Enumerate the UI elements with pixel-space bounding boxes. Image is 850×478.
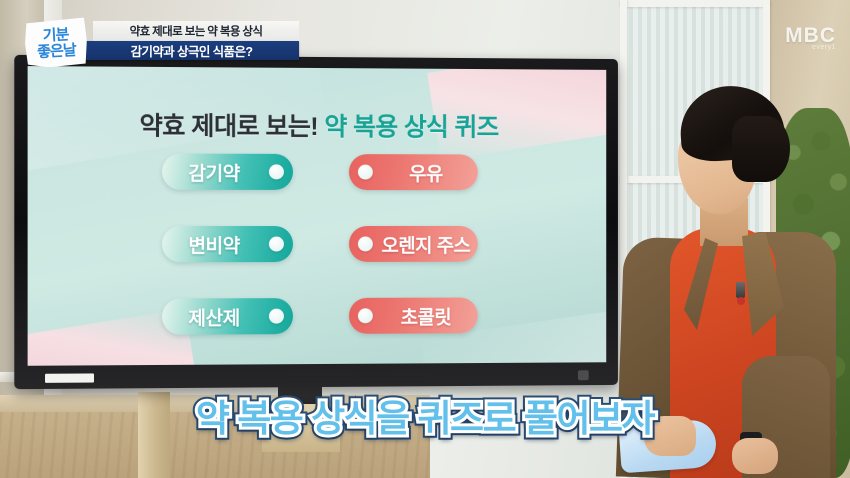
program-topic-banner: 약효 제대로 보는 약 복용 상식 감기약과 상극인 식품은? — [84, 21, 299, 60]
connector-dot-icon — [268, 164, 283, 179]
mbc-watermark-sub: every1 — [812, 44, 836, 51]
quiz-option-label: 감기약 — [188, 158, 239, 185]
quiz-option-label: 제산제 — [188, 303, 239, 330]
lapel-pin — [736, 282, 745, 298]
hair-back — [732, 116, 790, 182]
tv-power-led — [578, 370, 589, 380]
tv-brand-badge — [45, 373, 94, 382]
slide-title-part2: 약 복용 상식 퀴즈 — [324, 113, 498, 142]
quiz-option-medicine-3[interactable]: 제산제 — [162, 298, 293, 335]
banner-line-2: 감기약과 상극인 식품은? — [84, 41, 299, 60]
glass-frame-top — [620, 0, 770, 7]
quiz-option-food-3[interactable]: 초콜릿 — [348, 297, 477, 333]
quiz-option-food-2[interactable]: 오렌지 주스 — [348, 226, 477, 262]
connector-dot-icon — [357, 236, 372, 251]
quiz-option-label: 변비약 — [188, 231, 239, 258]
banner-line-1: 약효 제대로 보는 약 복용 상식 — [93, 21, 299, 41]
quiz-slide: 약효 제대로 보는! 약 복용 상식 퀴즈 감기약 변비약 — [28, 66, 607, 366]
food-column: 우유 오렌지 주스 초콜릿 — [348, 154, 477, 334]
lapel-pin-gem — [737, 297, 745, 305]
quiz-option-label: 초콜릿 — [401, 302, 451, 329]
show-logo-line-2: 좋은날 — [37, 42, 76, 59]
show-logo-line-1: 기분 — [42, 27, 68, 43]
connector-dot-icon — [357, 308, 372, 323]
connector-dot-icon — [268, 237, 283, 252]
medicine-column: 감기약 변비약 제산제 — [162, 154, 293, 335]
subtitle-caption: 약 복용 상식을 퀴즈로 풀어보자 — [0, 388, 850, 442]
quiz-option-medicine-1[interactable]: 감기약 — [162, 154, 293, 190]
slide-title: 약효 제대로 보는! 약 복용 상식 퀴즈 — [28, 106, 607, 144]
television: 약효 제대로 보는! 약 복용 상식 퀴즈 감기약 변비약 — [18, 57, 622, 387]
screenshot-stage: 약효 제대로 보는! 약 복용 상식 퀴즈 감기약 변비약 — [0, 0, 850, 478]
quiz-option-label: 오렌지 주스 — [381, 230, 470, 257]
tv-screen: 약효 제대로 보는! 약 복용 상식 퀴즈 감기약 변비약 — [28, 66, 607, 366]
slide-title-part1: 약효 제대로 보는! — [140, 112, 318, 141]
quiz-option-food-1[interactable]: 우유 — [348, 154, 477, 190]
connector-dot-icon — [357, 165, 372, 180]
tv-bezel: 약효 제대로 보는! 약 복용 상식 퀴즈 감기약 변비약 — [14, 55, 618, 389]
quiz-option-medicine-2[interactable]: 변비약 — [162, 226, 293, 262]
show-logo: 기분 좋은날 — [24, 17, 88, 68]
quiz-option-label: 우유 — [409, 159, 443, 186]
quiz-columns: 감기약 변비약 제산제 — [28, 153, 607, 335]
right-hand — [732, 438, 778, 474]
connector-dot-icon — [268, 309, 283, 324]
